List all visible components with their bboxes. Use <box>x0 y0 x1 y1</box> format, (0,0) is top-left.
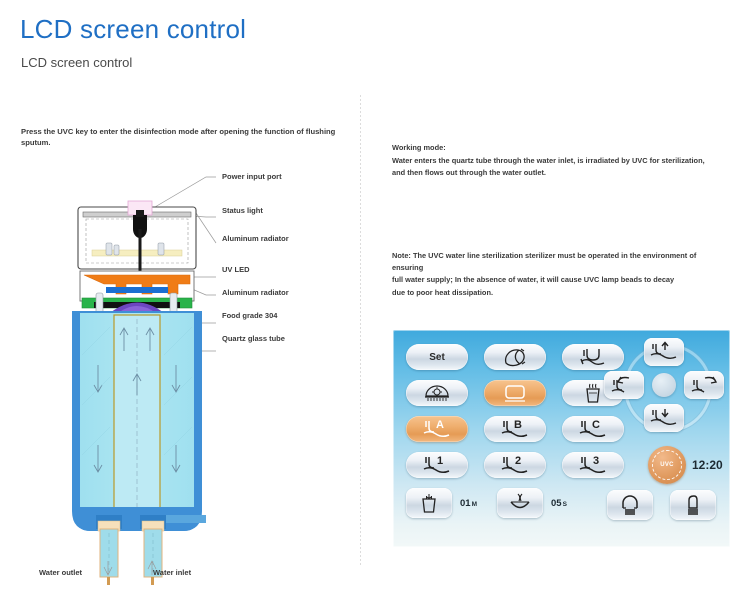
chair-preset-icon: B <box>498 418 532 440</box>
working-mode-line2: and then flows out through the water out… <box>392 167 722 179</box>
bowl-rinse-icon <box>508 492 532 514</box>
bowl-rinse-timer-button[interactable] <box>497 488 543 518</box>
chair-preset-icon: 1 <box>420 454 454 476</box>
uvc-badge-ring: UVC <box>652 450 681 479</box>
bowl-rinse-value-unit: S <box>563 501 567 508</box>
preset-b-label: B <box>514 419 522 431</box>
callout-aluminum-radiator-top: Aluminum radiator <box>222 234 289 243</box>
column-divider <box>360 95 361 565</box>
dpad-center-button[interactable] <box>652 373 676 397</box>
preset-a-button[interactable]: A <box>406 416 468 442</box>
note-line3: due to poor heat dissipation. <box>392 287 722 299</box>
callout-uv-led: UV LED <box>222 265 250 274</box>
chair-up-icon <box>649 341 679 363</box>
film-viewer-button[interactable] <box>484 344 546 370</box>
callout-food-grade-304: Food grade 304 <box>222 311 277 320</box>
screen-display-icon <box>502 383 528 403</box>
callout-aluminum-radiator-bottom: Aluminum radiator <box>222 288 289 297</box>
clock-display: 12:20 <box>692 458 723 472</box>
preset-c-button[interactable]: C <box>562 416 624 442</box>
chair-up-button[interactable] <box>644 338 684 366</box>
note-block: Note: The UVC water line sterilization s… <box>392 250 722 299</box>
position-1-label: 1 <box>437 455 443 467</box>
arch-lamp-icon <box>618 494 642 516</box>
chair-down-button[interactable] <box>644 404 684 432</box>
callout-power-input-port: Power input port <box>222 172 282 181</box>
preset-c-label: C <box>592 419 600 431</box>
preset-b-button[interactable]: B <box>484 416 546 442</box>
set-button-label: Set <box>429 352 445 363</box>
working-mode-block: Working mode: Water enters the quartz tu… <box>392 142 722 180</box>
lead-instruction: Press the UVC key to enter the disinfect… <box>21 126 341 148</box>
set-button[interactable]: Set <box>406 344 468 370</box>
operating-light-icon <box>422 383 452 403</box>
cup-fill-value-number: 01 <box>460 498 471 509</box>
label-water-inlet: Water inlet <box>153 568 191 577</box>
chair-preset-icon: C <box>576 418 610 440</box>
handpiece-button[interactable] <box>670 490 716 520</box>
film-viewer-icon <box>502 347 528 367</box>
screen-display-button[interactable] <box>484 380 546 406</box>
preset-a-label: A <box>436 419 444 431</box>
position-3-button[interactable]: 3 <box>562 452 624 478</box>
chair-recline-right-button[interactable] <box>684 371 724 399</box>
operating-light-button[interactable] <box>406 380 468 406</box>
cup-fill-value-unit: M <box>472 501 477 508</box>
position-2-button[interactable]: 2 <box>484 452 546 478</box>
working-mode-heading: Working mode: <box>392 142 722 154</box>
sterilizer-diagram <box>10 155 350 585</box>
chair-preset-icon: A <box>420 418 454 440</box>
lcd-control-panel[interactable]: Set <box>393 330 730 547</box>
chair-basin-button[interactable] <box>562 344 624 370</box>
handpiece-icon <box>682 494 704 516</box>
cup-fill-timer-value: 01M <box>460 498 477 509</box>
callout-status-light: Status light <box>222 206 263 215</box>
chair-down-icon <box>649 407 679 429</box>
light-cure-lamp-button[interactable] <box>607 490 653 520</box>
label-water-outlet: Water outlet <box>39 568 82 577</box>
callout-quartz-glass-tube: Quartz glass tube <box>222 334 285 343</box>
chair-preset-icon: 2 <box>498 454 532 476</box>
bowl-rinse-value-number: 05 <box>551 498 562 509</box>
position-2-label: 2 <box>515 455 521 467</box>
page-root: LCD screen control LCD screen control Pr… <box>0 0 750 603</box>
note-line2: full water supply; In the absence of wat… <box>392 274 722 286</box>
position-1-button[interactable]: 1 <box>406 452 468 478</box>
page-title: LCD screen control <box>20 14 246 45</box>
steam-cup-icon <box>582 382 604 404</box>
chair-basin-icon <box>579 347 607 367</box>
uvc-badge-label: UVC <box>660 462 674 468</box>
cup-fill-timer-button[interactable] <box>406 488 452 518</box>
uvc-badge[interactable]: UVC <box>648 446 686 484</box>
bowl-rinse-timer-value: 05S <box>551 498 567 509</box>
cup-fill-icon <box>419 492 439 514</box>
position-3-label: 3 <box>593 455 599 467</box>
page-subtitle: LCD screen control <box>21 55 132 70</box>
chair-recline-left-icon <box>609 374 639 396</box>
note-line1: Note: The UVC water line sterilization s… <box>392 250 722 273</box>
chair-recline-left-button[interactable] <box>604 371 644 399</box>
chair-preset-icon: 3 <box>576 454 610 476</box>
working-mode-line1: Water enters the quartz tube through the… <box>392 155 722 167</box>
chair-recline-right-icon <box>689 374 719 396</box>
